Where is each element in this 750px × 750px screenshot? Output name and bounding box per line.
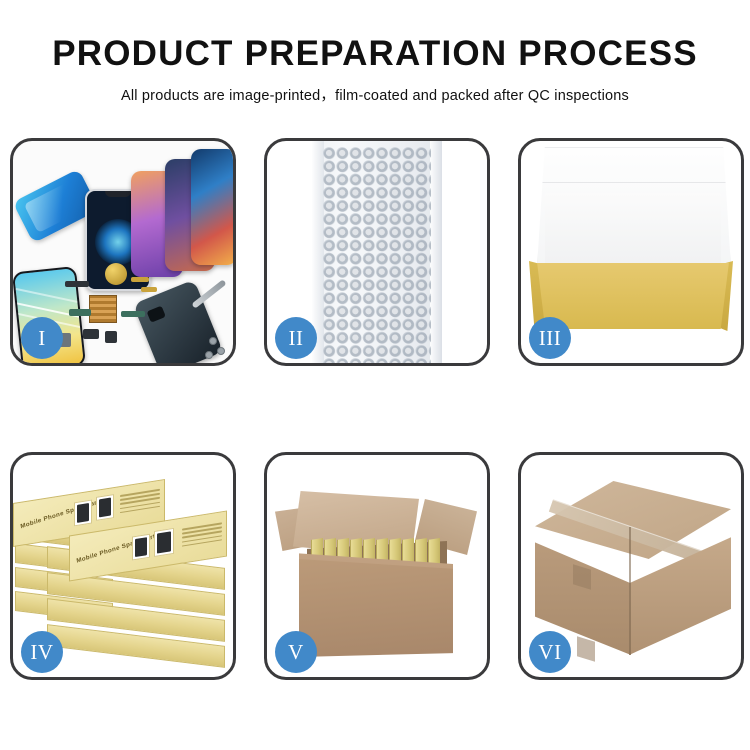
page-subtitle: All products are image-printed，film-coat…	[0, 84, 750, 105]
ribbon-cable-icon	[121, 311, 145, 317]
step-badge-4: IV	[21, 631, 63, 673]
process-step-6: VI	[518, 452, 744, 680]
process-step-2: II	[264, 138, 490, 366]
screw-icon	[209, 337, 217, 345]
small-part-icon	[83, 329, 99, 339]
infographic-page: PRODUCT PREPARATION PROCESS All products…	[0, 0, 750, 750]
sealed-carton-top	[535, 481, 731, 559]
wrap-edge-right	[430, 141, 442, 363]
step-badge-1: I	[21, 317, 63, 359]
page-title: PRODUCT PREPARATION PROCESS	[0, 36, 750, 71]
header: PRODUCT PREPARATION PROCESS All products…	[0, 0, 750, 105]
kraft-box-base	[531, 263, 735, 329]
step-badge-3: III	[529, 317, 571, 359]
screw-icon	[217, 347, 225, 355]
screw-icon	[205, 351, 213, 359]
process-step-3: III	[518, 138, 744, 366]
flex-cable-icon	[65, 281, 89, 287]
step-badge-2: II	[275, 317, 317, 359]
speaker-coil-icon	[105, 263, 127, 285]
process-step-4: Mobile Phone Spare Parts Mobile Phone Sp…	[10, 452, 236, 680]
phone-wave-icon	[191, 149, 233, 265]
process-step-1: I	[10, 138, 236, 366]
gold-connector-icon	[141, 287, 157, 292]
foam-sheet	[545, 193, 721, 269]
step-badge-5: V	[275, 631, 317, 673]
small-part-icon	[105, 331, 117, 343]
bubble-wrap-bubbles-icon	[323, 147, 431, 363]
ribbon-cable-icon	[69, 309, 91, 316]
carton-handle-slot	[577, 636, 595, 662]
process-step-grid: I II III	[10, 138, 740, 680]
process-step-5: V	[264, 452, 490, 680]
carton-front-face	[299, 559, 453, 657]
step-badge-6: VI	[529, 631, 571, 673]
chip-grid-icon	[89, 295, 117, 323]
carton-corner-seam	[629, 527, 631, 655]
gold-connector-icon	[131, 277, 149, 282]
